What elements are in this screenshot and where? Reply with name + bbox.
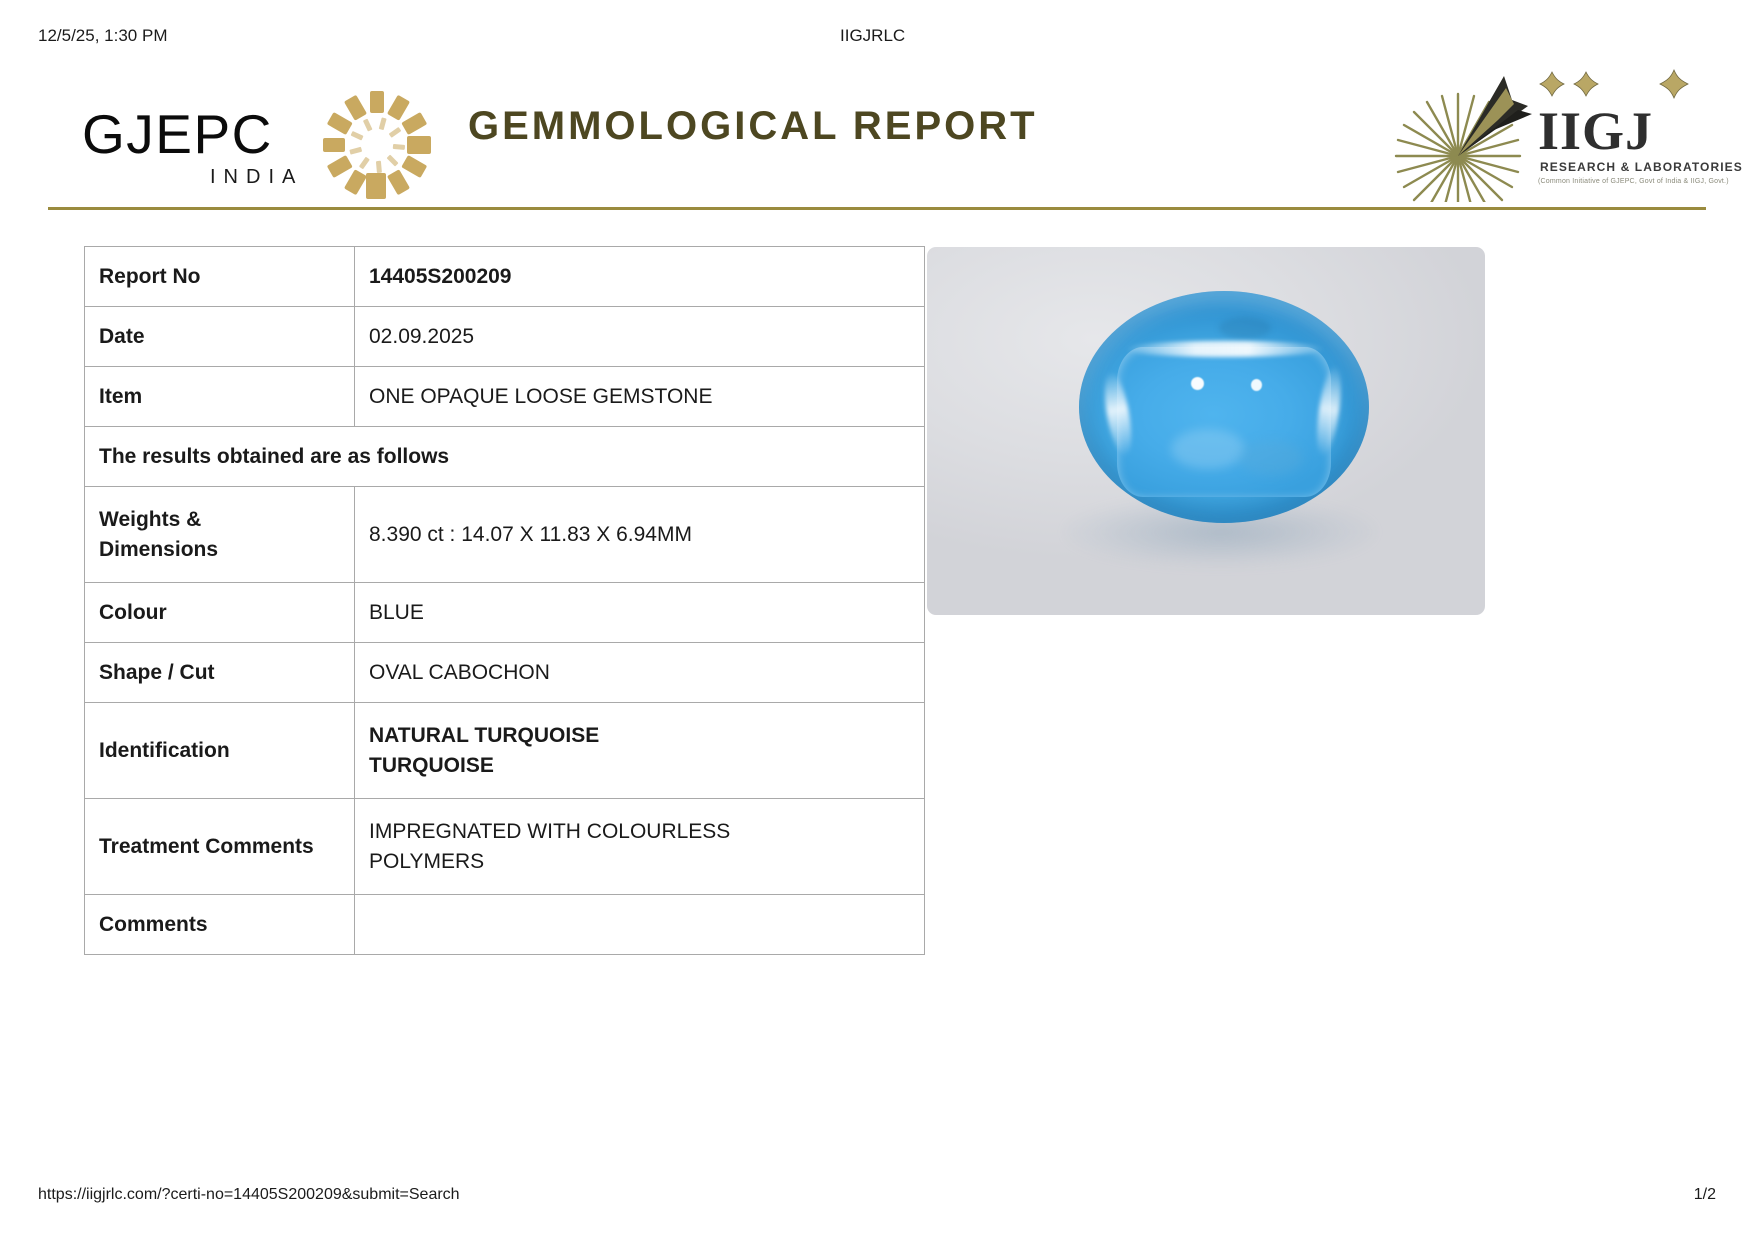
- gemstone-specular-1: [1191, 377, 1204, 390]
- table-row-report-no: Report No 14405S200209: [85, 247, 925, 307]
- print-footer: https://iigjrlc.com/?certi-no=14405S2002…: [0, 1186, 1754, 1208]
- gemstone-photo-panel: [927, 247, 1485, 615]
- table-row-colour: Colour BLUE: [85, 583, 925, 643]
- gjepc-sunburst-icon: [318, 86, 436, 204]
- results-banner-text: The results obtained are as follows: [85, 427, 925, 487]
- report-page: 12/5/25, 1:30 PM IIGJRLC GJEPC INDIA: [0, 0, 1754, 1240]
- print-footer-url: https://iigjrlc.com/?certi-no=14405S2002…: [38, 1186, 460, 1204]
- row-label-identification: Identification: [85, 703, 355, 799]
- gemstone-mottle-top: [1219, 317, 1271, 339]
- table-row-treatment-comments: Treatment Comments IMPREGNATED WITH COLO…: [85, 799, 925, 895]
- table-row-results-banner: The results obtained are as follows: [85, 427, 925, 487]
- row-label-shape-cut: Shape / Cut: [85, 643, 355, 703]
- report-details-table: Report No 14405S200209 Date 02.09.2025 I…: [84, 246, 925, 955]
- row-label-weights-dimensions: Weights & Dimensions: [85, 487, 355, 583]
- gemstone-mottle-lower-right: [1239, 441, 1303, 475]
- identification-line-1: NATURAL TURQUOISE: [369, 721, 910, 751]
- table-row-comments: Comments: [85, 895, 925, 955]
- iigj-starburst-icon: [1386, 70, 1546, 202]
- iigj-wordmark: IIGJ: [1538, 100, 1653, 162]
- print-header-date: 12/5/25, 1:30 PM: [38, 26, 167, 46]
- gemstone-highlight-top: [1125, 341, 1325, 357]
- print-footer-page-number: 1/2: [1694, 1186, 1716, 1204]
- treatment-line-1: IMPREGNATED WITH COLOURLESS: [369, 817, 910, 847]
- gemstone-dome: [1117, 347, 1331, 497]
- row-label-comments: Comments: [85, 895, 355, 955]
- row-label-weights: Weights &: [99, 505, 340, 535]
- row-value-report-no: 14405S200209: [355, 247, 925, 307]
- print-header-title: IIGJRLC: [840, 26, 905, 46]
- iigj-subtitle: RESEARCH & LABORATORIES: [1540, 160, 1743, 174]
- treatment-line-2: POLYMERS: [369, 847, 910, 877]
- iigj-sparkle-icons: [1538, 68, 1698, 102]
- row-label-dimensions: Dimensions: [99, 535, 340, 565]
- print-header: 12/5/25, 1:30 PM IIGJRLC: [0, 26, 1754, 48]
- table-row-date: Date 02.09.2025: [85, 307, 925, 367]
- gemstone-specular-2: [1251, 379, 1262, 391]
- row-label-report-no: Report No: [85, 247, 355, 307]
- identification-line-2: TURQUOISE: [369, 751, 910, 781]
- row-label-item: Item: [85, 367, 355, 427]
- row-label-date: Date: [85, 307, 355, 367]
- iigj-fineprint: (Common Initiative of GJEPC, Govt of Ind…: [1538, 178, 1729, 185]
- table-row-shape-cut: Shape / Cut OVAL CABOCHON: [85, 643, 925, 703]
- iigj-logo: IIGJ RESEARCH & LABORATORIES (Common Ini…: [1386, 62, 1706, 202]
- row-value-treatment-comments: IMPREGNATED WITH COLOURLESS POLYMERS: [355, 799, 925, 895]
- row-value-date: 02.09.2025: [355, 307, 925, 367]
- page-title: GEMMOLOGICAL REPORT: [468, 104, 1038, 149]
- gemstone-image: [1079, 291, 1369, 523]
- gjepc-logo: GJEPC INDIA: [82, 84, 442, 202]
- row-value-identification: NATURAL TURQUOISE TURQUOISE: [355, 703, 925, 799]
- gemstone-mottle-lower-left: [1171, 429, 1245, 469]
- row-value-weights-dimensions: 8.390 ct : 14.07 X 11.83 X 6.94MM: [355, 487, 925, 583]
- row-label-treatment-comments: Treatment Comments: [85, 799, 355, 895]
- gold-divider: [48, 207, 1706, 210]
- row-value-comments: [355, 895, 925, 955]
- row-value-colour: BLUE: [355, 583, 925, 643]
- row-value-item: ONE OPAQUE LOOSE GEMSTONE: [355, 367, 925, 427]
- table-row-weights-dimensions: Weights & Dimensions 8.390 ct : 14.07 X …: [85, 487, 925, 583]
- gjepc-subtext: INDIA: [210, 166, 303, 189]
- masthead: GJEPC INDIA: [48, 62, 1706, 202]
- row-value-shape-cut: OVAL CABOCHON: [355, 643, 925, 703]
- gjepc-wordmark: GJEPC: [82, 102, 273, 166]
- row-label-colour: Colour: [85, 583, 355, 643]
- table-row-identification: Identification NATURAL TURQUOISE TURQUOI…: [85, 703, 925, 799]
- table-row-item: Item ONE OPAQUE LOOSE GEMSTONE: [85, 367, 925, 427]
